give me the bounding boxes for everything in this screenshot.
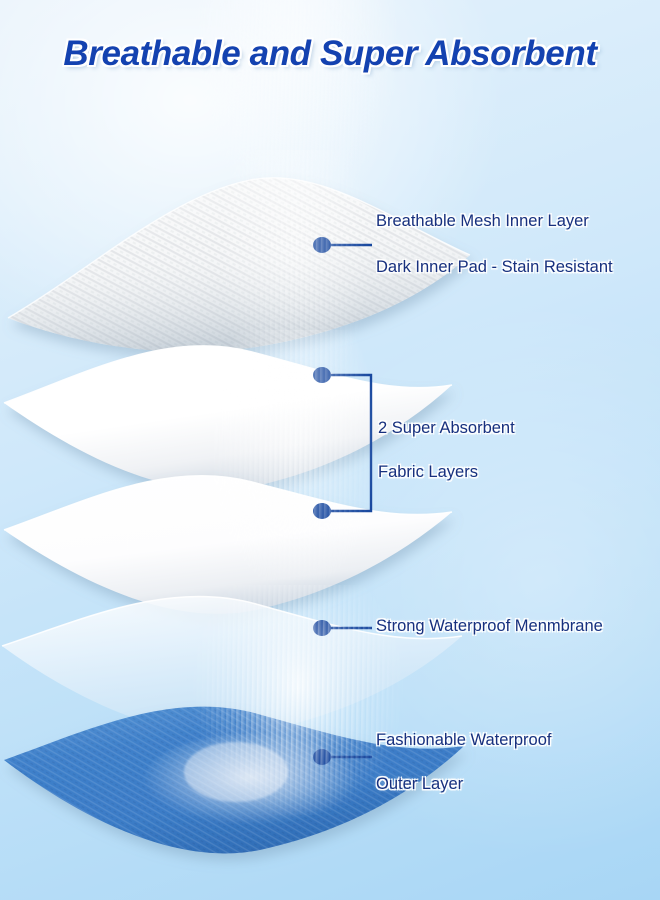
page-title: Breathable and Super Absorbent	[0, 34, 660, 74]
callout-label-super-absorbent: 2 Super Absorbent	[378, 419, 515, 438]
callout-label-fashionable-waterproof: Fashionable Waterproof	[376, 731, 551, 750]
callout-label-waterproof-membrane: Strong Waterproof Menmbrane	[376, 617, 603, 636]
callout-label-outer-layer: Outer Layer	[376, 775, 463, 794]
product-infographic-poster: Breathable and Super Absorbent Breathabl…	[0, 0, 660, 900]
callout-label-breathable-mesh: Breathable Mesh Inner Layer	[376, 212, 589, 231]
callout-label-dark-inner-pad: Dark Inner Pad - Stain Resistant	[376, 258, 613, 277]
layer-super-absorbent-2	[4, 476, 452, 614]
layer-stack-illustration	[0, 0, 660, 900]
callout-label-fabric-layers: Fabric Layers	[378, 463, 478, 482]
